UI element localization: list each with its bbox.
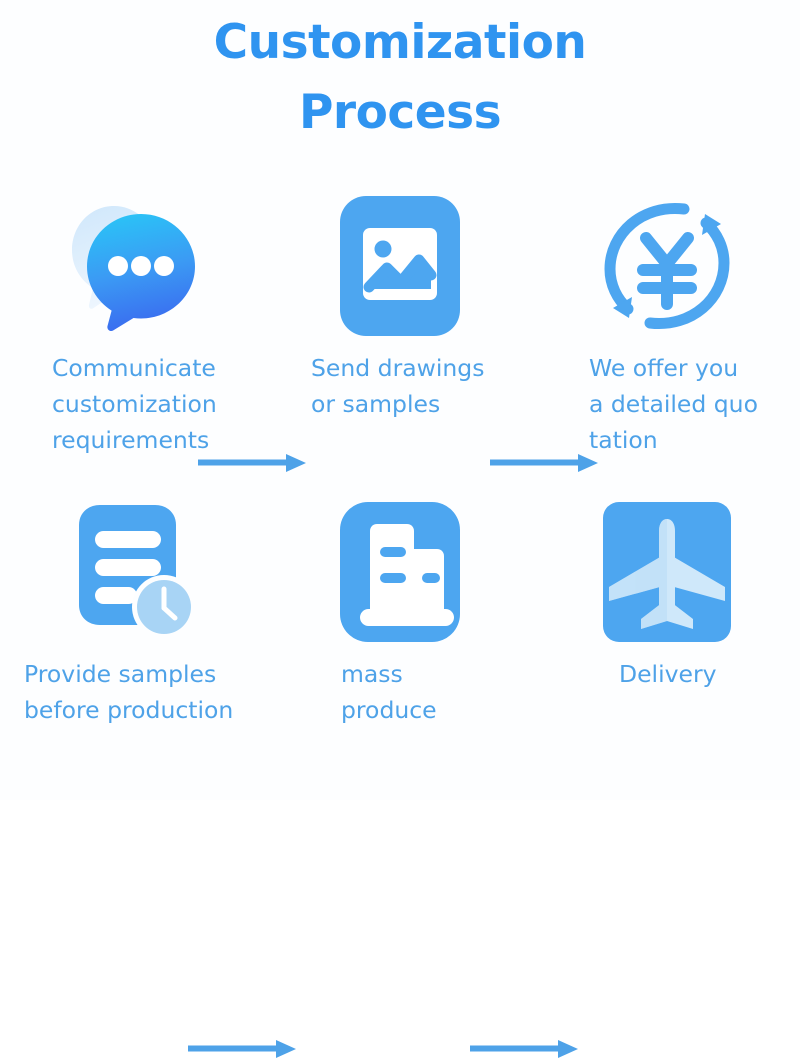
- customization-process-infographic: Customization Process: [0, 0, 800, 800]
- process-step-3-caption: We offer you a detailed quo tation: [589, 350, 800, 458]
- process-row-top: Communicate customization requirements S…: [0, 186, 800, 446]
- process-step-4: Provide samples before production: [0, 492, 266, 752]
- process-step-6-caption: Delivery: [619, 656, 800, 692]
- process-step-4-caption: Provide samples before production: [24, 656, 290, 728]
- process-step-5: mass produce: [267, 492, 533, 752]
- airplane-delivery-icon: [534, 492, 800, 652]
- arrow-step4-to-step5: [188, 1037, 298, 1061]
- document-clock-icon: [0, 492, 266, 652]
- title-line-1: Customization: [0, 8, 800, 78]
- yen-refresh-quote-icon: [534, 186, 800, 346]
- process-step-2: Send drawings or samples: [267, 186, 533, 446]
- process-step-3: We offer you a detailed quo tation: [534, 186, 800, 446]
- arrow-step1-to-step2: [198, 451, 308, 475]
- process-row-bottom: Provide samples before production: [0, 492, 800, 752]
- page-title: Customization Process: [0, 8, 800, 148]
- process-step-6: Delivery: [534, 492, 800, 752]
- title-line-2: Process: [0, 78, 800, 148]
- arrow-step2-to-step3: [490, 451, 600, 475]
- process-step-1: Communicate customization requirements: [0, 186, 266, 446]
- factory-building-icon: [267, 492, 533, 652]
- chat-bubble-dots-icon: [0, 186, 266, 346]
- arrow-step5-to-step6: [470, 1037, 580, 1061]
- image-picture-icon: [267, 186, 533, 346]
